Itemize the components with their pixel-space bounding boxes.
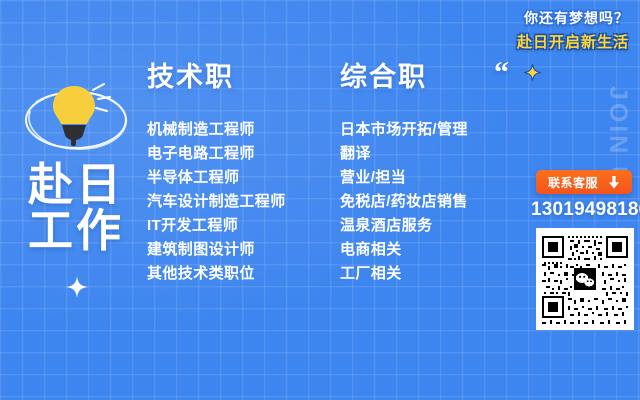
column-heading-general: 综合职 — [340, 62, 468, 92]
brand-block: 赴日 工作 — [14, 78, 142, 328]
list-item[interactable]: 翻译 — [340, 142, 468, 166]
sparkle-star-icon — [66, 276, 88, 298]
list-item[interactable]: 电商相关 — [340, 238, 468, 262]
brand-title-line1: 赴日 — [14, 162, 138, 208]
slogan-highlight: 赴日开启新生活 — [517, 31, 629, 52]
job-column-general: 综合职 日本市场开拓/管理 翻译 营业/担当 免税店/药妆店销售 温泉酒店服务 … — [340, 62, 468, 286]
wechat-qr-code[interactable] — [536, 228, 634, 330]
contact-service-button[interactable]: 联系客服 — [536, 170, 632, 194]
list-item[interactable]: 半导体工程师 — [147, 166, 286, 190]
list-item[interactable]: 机械制造工程师 — [147, 118, 286, 142]
slogan-question: 你还有梦想吗？ — [524, 8, 629, 28]
list-item[interactable]: IT开发工程师 — [147, 214, 286, 238]
job-column-technical: 技术职 机械制造工程师 电子电路工程师 半导体工程师 汽车设计制造工程师 IT开… — [147, 62, 286, 286]
list-item[interactable]: 工厂相关 — [340, 262, 468, 286]
brand-title-line2: 工作 — [14, 208, 138, 254]
column-heading-technical: 技术职 — [147, 62, 286, 92]
lightbulb-icon — [18, 78, 134, 156]
job-list-general: 日本市场开拓/管理 翻译 营业/担当 免税店/药妆店销售 温泉酒店服务 电商相关… — [340, 118, 468, 286]
list-item[interactable]: 建筑制图设计师 — [147, 238, 286, 262]
quote-mark-icon: “ — [494, 58, 509, 88]
list-item[interactable]: 汽车设计制造工程师 — [147, 190, 286, 214]
job-list-technical: 机械制造工程师 电子电路工程师 半导体工程师 汽车设计制造工程师 IT开发工程师… — [147, 118, 286, 286]
list-item[interactable]: 日本市场开拓/管理 — [340, 118, 468, 142]
arrow-down-icon — [608, 176, 620, 189]
list-item[interactable]: 电子电路工程师 — [147, 142, 286, 166]
list-item[interactable]: 其他技术类职位 — [147, 262, 286, 286]
list-item[interactable]: 免税店/药妆店销售 — [340, 190, 468, 214]
phone-number[interactable]: 13019498186 — [531, 199, 637, 221]
contact-service-label: 联系客服 — [548, 174, 598, 191]
brand-title: 赴日 工作 — [14, 162, 138, 254]
list-item[interactable]: 温泉酒店服务 — [340, 214, 468, 238]
four-point-star-icon — [524, 64, 541, 81]
poster-canvas: 赴日 工作 技术职 机械制造工程师 电子电路工程师 半导体工程师 汽车设计制造工… — [0, 0, 640, 400]
list-item[interactable]: 营业/担当 — [340, 166, 468, 190]
